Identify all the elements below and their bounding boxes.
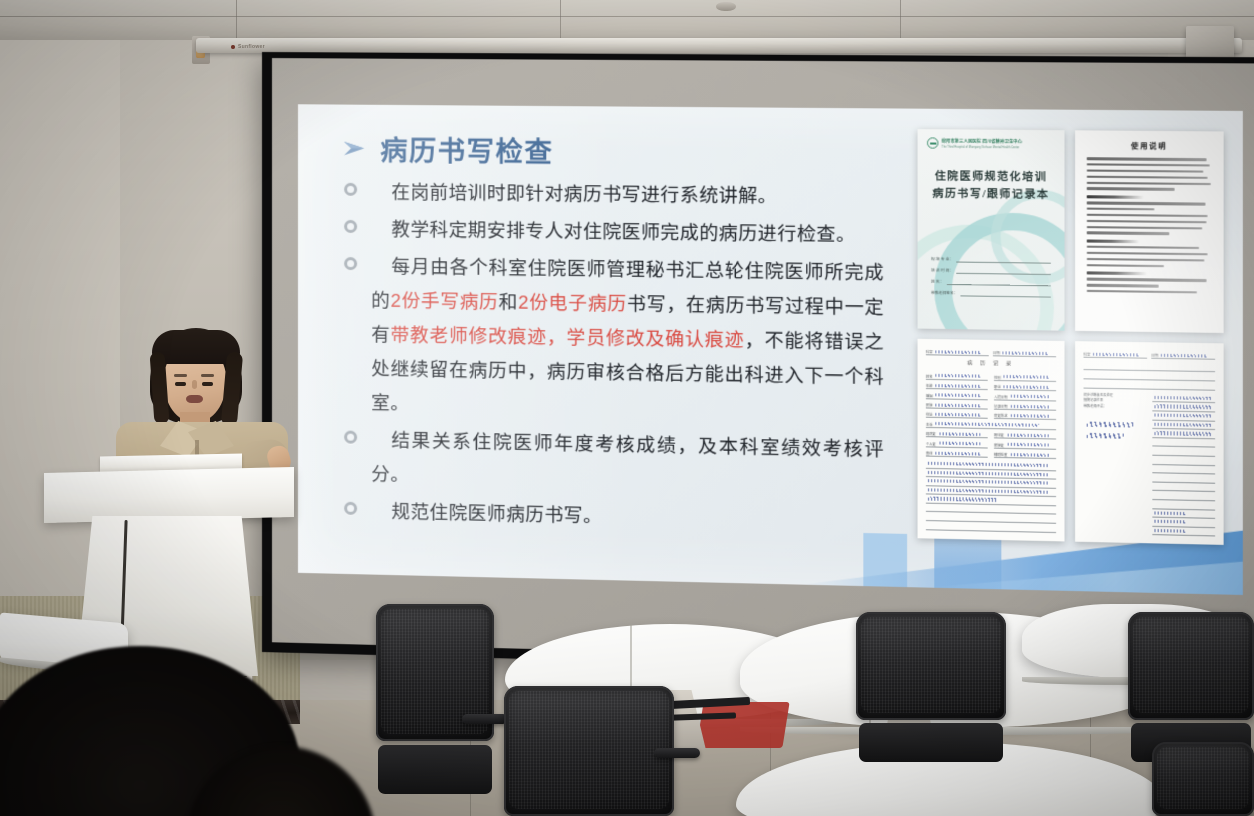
bullet-text: 每月由各个科室住院医师管理秘书汇总轮住院医师所完成的2份手写病历和2份电子病历书… xyxy=(371,249,884,429)
hospital-logo: 绵阳市第三人民医院 四川省精神卫生中心 The Third Hospital o… xyxy=(927,137,1022,149)
plain-text: 在岗前培训时即针对病历书写进行系统讲解。 xyxy=(391,181,777,206)
smoke-detector-icon xyxy=(716,2,736,11)
field-line xyxy=(961,291,1051,297)
booklet-field-row: 规 培 专 业： xyxy=(931,257,1051,264)
list-item: 规范住院医师病历书写。 xyxy=(342,494,884,540)
bullet-dot-icon xyxy=(344,183,357,196)
plain-text: 教学科定期安排专人对住院医师完成的病历进行检查。 xyxy=(391,218,855,245)
slide-document-images: 绵阳市第三人民医院 四川省精神卫生中心 The Third Hospital o… xyxy=(918,129,1224,545)
office-chair[interactable] xyxy=(376,604,494,794)
list-item: 每月由各个科室住院医师管理秘书汇总轮住院医师所完成的2份手写病历和2份电子病历书… xyxy=(342,249,884,429)
bullet-text: 教学科定期安排专人对住院医师完成的病历进行检查。 xyxy=(371,212,855,252)
table-base xyxy=(696,702,789,748)
hospital-name-cn: 绵阳市第三人民医院 四川省精神卫生中心 xyxy=(942,138,1023,145)
hospital-name-en: The Third Hospital of Mianyang Sichuan M… xyxy=(942,145,1023,149)
list-item: 在岗前培训时即针对病历书写进行系统讲解。 xyxy=(342,175,884,215)
roller-brand-label: Sunflower xyxy=(238,44,265,50)
booklet-title: 住院医师规范化培训 病历书写/跟师记录本 xyxy=(918,168,1065,204)
instructions-page-image: 使用说明 xyxy=(1075,130,1224,333)
booklet-title-line1: 住院医师规范化培训 xyxy=(918,168,1065,187)
highlighted-text: 带教老师修改痕迹，学员修改及确认痕迹 xyxy=(391,324,745,351)
bullet-text: 结果关系住院医师年度考核成绩，及本科室绩效考核评分。 xyxy=(371,423,884,502)
field-label: 规 培 专 业： xyxy=(931,257,953,262)
bullet-dot-icon xyxy=(344,431,357,444)
signed-record-image: 科室 日期 初步诊断意见及处理 措施记录栏目 带教老师评语： xyxy=(1075,341,1224,545)
booklet-field-row: 带教老师签名： xyxy=(931,291,1051,298)
highlighted-text: 2份电子病历 xyxy=(518,291,627,314)
brand-mark-icon xyxy=(231,45,235,49)
plain-text: 和 xyxy=(499,291,518,312)
bullet-text: 在岗前培训时即针对病历书写进行系统讲解。 xyxy=(371,175,777,213)
record-heading: 病 历 记 录 xyxy=(926,359,1056,368)
projection-screen: 病历书写检查 在岗前培训时即针对病历书写进行系统讲解。 教学科定期安排专人对住院… xyxy=(262,52,1254,678)
presentation-slide: 病历书写检查 在岗前培训时即针对病历书写进行系统讲解。 教学科定期安排专人对住院… xyxy=(298,104,1243,595)
booklet-cover-image: 绵阳市第三人民医院 四川省精神卫生中心 The Third Hospital o… xyxy=(918,129,1065,331)
booklet-field-row: 培 训 时 间： xyxy=(931,268,1051,275)
arrow-bullet-icon xyxy=(342,137,368,159)
instructions-heading: 使用说明 xyxy=(1087,141,1212,152)
office-chair[interactable] xyxy=(1152,742,1254,816)
field-line xyxy=(956,257,1051,263)
field-line xyxy=(947,280,1051,286)
bullet-text: 规范住院医师病历书写。 xyxy=(371,494,602,533)
plain-text: 结果关系住院医师年度考核成绩，及本科室绩效考核评分。 xyxy=(371,429,884,485)
bullet-dot-icon xyxy=(344,502,357,515)
list-item: 结果关系住院医师年度考核成绩，及本科室绩效考核评分。 xyxy=(342,422,884,501)
slide-title: 病历书写检查 xyxy=(380,129,553,170)
screen-surface: 病历书写检查 在岗前培训时即针对病历书写进行系统讲解。 教学科定期安排专人对住院… xyxy=(272,58,1254,668)
handwritten-record-image: 科室 日期 病 历 记 录 姓名 性别 年龄 职业 婚姻 入院日期 民族 xyxy=(918,339,1065,542)
office-chair[interactable] xyxy=(1128,612,1254,762)
projector-screen-roller xyxy=(196,38,1242,53)
presentation-room-photo: Sunflower 病历书写检查 xyxy=(0,0,1254,816)
bullet-dot-icon xyxy=(344,257,357,270)
office-chair[interactable] xyxy=(856,612,1006,762)
booklet-fields: 规 培 专 业： 培 训 时 间： 姓 名： xyxy=(931,257,1051,304)
booklet-title-line2: 病历书写/跟师记录本 xyxy=(918,185,1065,204)
handwritten-comment xyxy=(1084,419,1147,449)
hospital-mark-icon xyxy=(927,137,939,148)
podium-top xyxy=(44,467,294,523)
slide-title-row: 病历书写检查 xyxy=(342,129,553,170)
bullet-dot-icon xyxy=(344,220,357,233)
plain-text: 规范住院医师病历书写。 xyxy=(391,501,602,527)
booklet-field-row: 姓 名： xyxy=(931,280,1051,287)
field-line xyxy=(956,269,1051,275)
field-label: 姓 名： xyxy=(931,280,943,285)
slide-bullet-list: 在岗前培训时即针对病历书写进行系统讲解。 教学科定期安排专人对住院医师完成的病历… xyxy=(342,175,884,543)
office-chair[interactable] xyxy=(504,686,674,816)
field-label: 带教老师签名： xyxy=(931,291,957,296)
list-item: 教学科定期安排专人对住院医师完成的病历进行检查。 xyxy=(342,212,884,253)
field-label: 培 训 时 间： xyxy=(931,268,953,273)
ceiling xyxy=(0,0,1254,42)
highlighted-text: 2份手写病历 xyxy=(391,290,499,313)
